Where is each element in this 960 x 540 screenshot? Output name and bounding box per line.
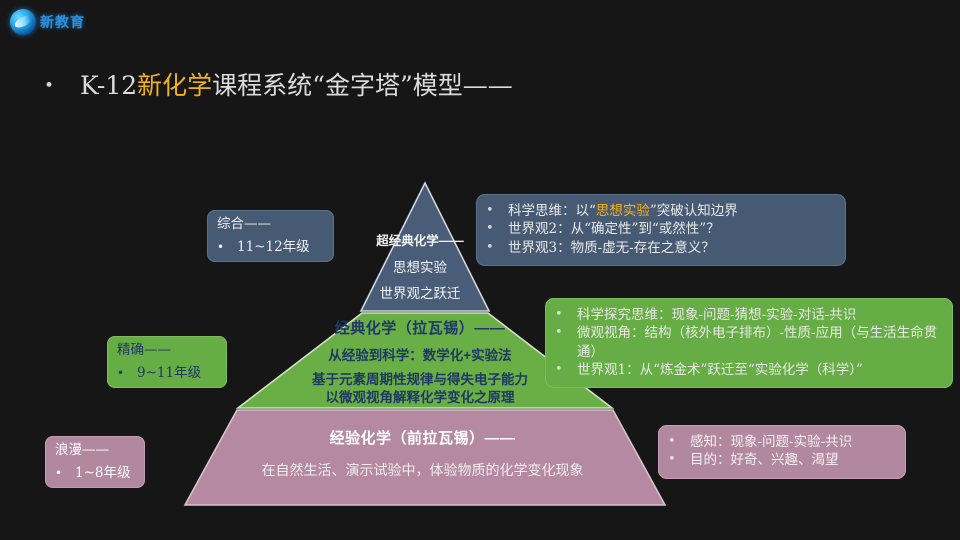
page-title: • K-12新化学课程系统“金字塔”模型—— bbox=[44, 72, 513, 100]
callout-inquiry-item-2: 微观视角：结构（核外电子排布）-性质-应用（与生活生命贯通） bbox=[577, 324, 943, 361]
title-suffix: 课程系统“金字塔”模型—— bbox=[212, 71, 513, 100]
list-item: • 感知：现象-问题-实验-共识 bbox=[668, 433, 896, 451]
callout-science-item-1-post: ”突破认知边界 bbox=[650, 203, 738, 219]
bullet-icon: • bbox=[117, 366, 137, 380]
grade-label-romantic-title: 浪漫—— bbox=[55, 442, 135, 459]
callout-science-item-1-highlight: 思想实验 bbox=[596, 203, 650, 219]
bullet-icon: • bbox=[668, 451, 690, 469]
grade-label-romantic: 浪漫—— • 1~8年级 bbox=[45, 436, 145, 488]
bullet-icon: • bbox=[668, 433, 690, 451]
callout-inquiry-item-3: 世界观1：从“炼金术”跃迁至“实验化学（科学）” bbox=[577, 361, 943, 379]
callout-science-list: • 科学思维：以“思想实验”突破认知边界 • 世界观2：从“确定性”到“或然性”… bbox=[486, 202, 836, 257]
title-bullet-icon: • bbox=[44, 78, 54, 95]
callout-science-item-1: 科学思维：以“思想实验”突破认知边界 bbox=[508, 202, 836, 220]
brand-logo-text: 新教育 bbox=[40, 12, 85, 32]
grade-label-romantic-row: • 1~8年级 bbox=[55, 461, 135, 481]
brand-logo: 新教育 bbox=[10, 6, 94, 38]
callout-inquiry-list: • 科学探究思维：现象-问题-猜想-实验-对话-共识 • 微观视角：结构（核外电… bbox=[555, 306, 943, 379]
callout-science-item-2: 世界观2：从“确定性”到“或然性”？ bbox=[508, 220, 836, 238]
callout-science-item-3: 世界观3：物质-虚无-存在之意义？ bbox=[508, 239, 836, 257]
tier-line-empirical-1: 在自然生活、演示试验中，体验物质的化学变化现象 bbox=[175, 461, 670, 481]
callout-perception-item-2: 目的：好奇、兴趣、渴望 bbox=[690, 451, 896, 469]
callout-perception: • 感知：现象-问题-实验-共识 • 目的：好奇、兴趣、渴望 bbox=[658, 425, 906, 479]
bullet-icon: • bbox=[55, 466, 75, 480]
callout-perception-item-1: 感知：现象-问题-实验-共识 bbox=[690, 433, 896, 451]
bullet-icon: • bbox=[555, 324, 577, 342]
grade-label-precise: 精确—— • 9~11年级 bbox=[107, 336, 227, 388]
bullet-icon: • bbox=[486, 220, 508, 238]
bullet-icon: • bbox=[217, 240, 237, 254]
title-highlight: 新化学 bbox=[137, 71, 212, 100]
bullet-icon: • bbox=[486, 239, 508, 257]
callout-science-item-1-pre: 科学思维：以“ bbox=[508, 203, 596, 219]
slide-canvas: 新教育 • K-12新化学课程系统“金字塔”模型—— 超经典化学—— 思想实验 … bbox=[0, 0, 960, 540]
grade-label-precise-row: • 9~11年级 bbox=[117, 361, 217, 381]
grade-label-comprehensive-range: 11~12年级 bbox=[237, 235, 310, 255]
grade-label-comprehensive-title: 综合—— bbox=[217, 216, 324, 233]
tier-text-empirical: 经验化学（前拉瓦锡）—— 在自然生活、演示试验中，体验物质的化学变化现象 bbox=[175, 428, 670, 481]
globe-swoosh-icon bbox=[10, 9, 36, 35]
list-item: • 目的：好奇、兴趣、渴望 bbox=[668, 451, 896, 469]
callout-inquiry-item-1: 科学探究思维：现象-问题-猜想-实验-对话-共识 bbox=[577, 306, 943, 324]
list-item: • 世界观3：物质-虚无-存在之意义？ bbox=[486, 239, 836, 257]
grade-label-precise-range: 9~11年级 bbox=[137, 361, 201, 381]
bullet-icon: • bbox=[486, 202, 508, 220]
tier-line-classical-3: 以微观视角解释化学变化之原理 bbox=[225, 389, 615, 406]
list-item: • 科学思维：以“思想实验”突破认知边界 bbox=[486, 202, 836, 220]
list-item: • 微观视角：结构（核外电子排布）-性质-应用（与生活生命贯通） bbox=[555, 324, 943, 361]
callout-perception-list: • 感知：现象-问题-实验-共识 • 目的：好奇、兴趣、渴望 bbox=[668, 433, 896, 470]
bullet-icon: • bbox=[555, 361, 577, 379]
bullet-icon: • bbox=[555, 306, 577, 324]
list-item: • 世界观1：从“炼金术”跃迁至“实验化学（科学）” bbox=[555, 361, 943, 379]
grade-label-comprehensive-row: • 11~12年级 bbox=[217, 235, 324, 255]
grade-label-romantic-range: 1~8年级 bbox=[75, 461, 131, 481]
list-item: • 科学探究思维：现象-问题-猜想-实验-对话-共识 bbox=[555, 306, 943, 324]
grade-label-comprehensive: 综合—— • 11~12年级 bbox=[207, 210, 334, 262]
list-item: • 世界观2：从“确定性”到“或然性”？ bbox=[486, 220, 836, 238]
tier-heading-empirical: 经验化学（前拉瓦锡）—— bbox=[175, 428, 670, 449]
callout-inquiry-thinking: • 科学探究思维：现象-问题-猜想-实验-对话-共识 • 微观视角：结构（核外电… bbox=[545, 298, 953, 388]
callout-science-thinking: • 科学思维：以“思想实验”突破认知边界 • 世界观2：从“确定性”到“或然性”… bbox=[476, 194, 846, 266]
grade-label-precise-title: 精确—— bbox=[117, 342, 217, 359]
page-title-text: K-12新化学课程系统“金字塔”模型—— bbox=[80, 72, 513, 100]
tier-line-super-classical-2: 世界观之跃迁 bbox=[310, 284, 530, 303]
title-prefix: K-12 bbox=[80, 71, 137, 100]
